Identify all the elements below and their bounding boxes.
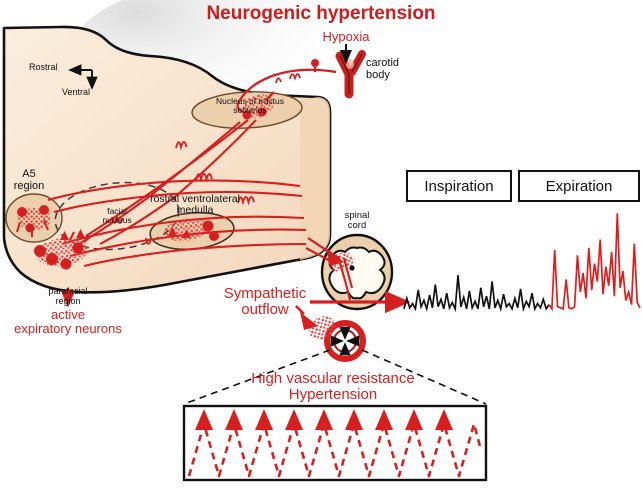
a5-region-label: A5 region bbox=[14, 169, 45, 193]
diagram-svg bbox=[0, 0, 642, 488]
nts-label: Nucleus of tractus solitarius bbox=[216, 97, 284, 115]
ventral-label: Ventral bbox=[62, 88, 90, 98]
facial-nucleus-label: facial nucleus bbox=[102, 207, 131, 225]
spinal-cord-cross-section bbox=[306, 235, 392, 309]
vascular-resistance-panel bbox=[184, 406, 486, 480]
outcome-label: High vascular resistance Hypertension bbox=[251, 371, 414, 403]
trace-expiration bbox=[549, 213, 640, 308]
hypoxia-label: Hypoxia bbox=[323, 30, 370, 44]
spinal-cord-label: spinal cord bbox=[345, 211, 370, 232]
rostral-label: Rostral bbox=[29, 63, 58, 73]
sympathetic-outflow-label: Sympathetic outflow bbox=[224, 286, 307, 318]
carotid-body-label: carotid body bbox=[366, 58, 399, 82]
figure-canvas: Neurogenic hypertension Hypoxia carotid … bbox=[0, 0, 642, 488]
parafacial-region-label: parafacial region bbox=[48, 287, 87, 306]
page-title: Neurogenic hypertension bbox=[206, 4, 435, 25]
sympathetic-activity-trace bbox=[404, 213, 640, 308]
trace-inspiration bbox=[404, 275, 549, 309]
inspiration-phase-box: Inspiration bbox=[406, 170, 512, 202]
expiration-phase-box: Expiration bbox=[518, 170, 640, 202]
rvlm-label: rostral ventrolateral medulla bbox=[150, 194, 240, 217]
active-expiratory-neurons-label: active expiratory neurons bbox=[14, 308, 122, 336]
